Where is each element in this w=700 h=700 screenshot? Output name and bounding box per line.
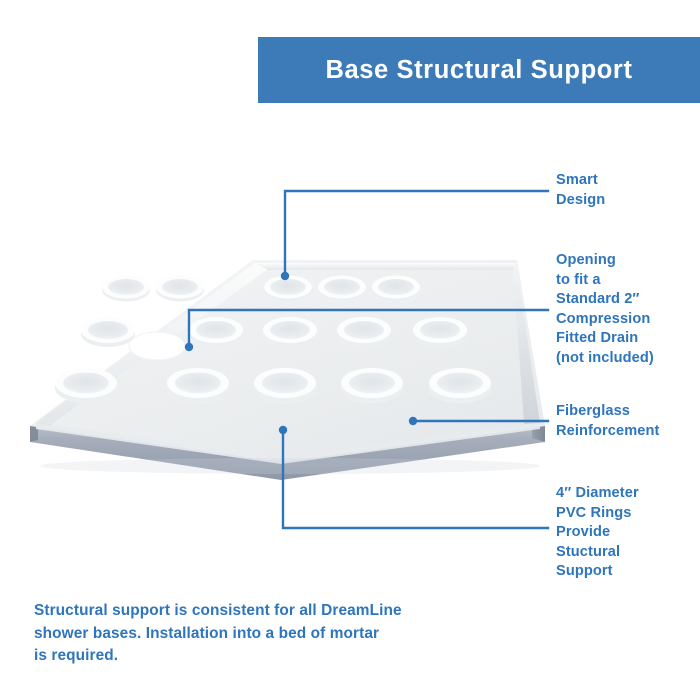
drain-opening — [129, 332, 185, 360]
callout-fiberglass: Fiberglass Reinforcement — [556, 402, 700, 441]
pvc-ring — [81, 317, 135, 347]
pvc-ring — [429, 368, 491, 403]
header-banner: Base Structural Support — [258, 37, 700, 103]
pvc-ring — [264, 276, 312, 302]
callout-drain-opening: Opening to fit a Standard 2″ Compression… — [556, 251, 700, 369]
pvc-ring — [341, 368, 403, 403]
footer-note: Structural support is consistent for all… — [34, 600, 504, 668]
product-illustration — [0, 230, 560, 480]
pvc-ring — [263, 317, 317, 347]
pvc-ring — [55, 368, 117, 403]
pvc-ring — [318, 276, 366, 302]
infographic-page: Base Structural Support — [0, 0, 700, 700]
pvc-ring — [413, 317, 467, 347]
callout-smart-design: Smart Design — [556, 171, 700, 210]
page-title: Base Structural Support — [325, 56, 632, 85]
callout-pvc-rings: 4″ Diameter PVC Rings Provide Stuctural … — [556, 484, 700, 582]
pvc-ring — [167, 368, 229, 403]
pvc-ring — [337, 317, 391, 347]
pvc-ring — [102, 276, 150, 302]
pvc-ring — [189, 317, 243, 347]
pvc-ring — [372, 276, 420, 302]
pvc-ring — [254, 368, 316, 403]
pvc-ring — [156, 276, 204, 302]
